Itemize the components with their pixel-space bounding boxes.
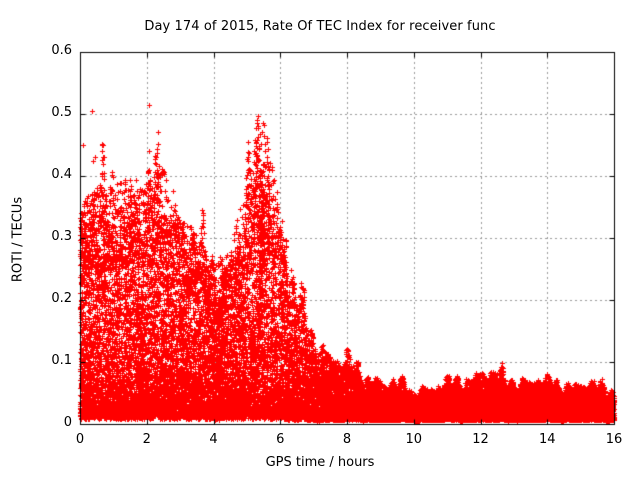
x-tick-label: 4 bbox=[184, 432, 244, 447]
roti-scatter-plot bbox=[0, 0, 640, 480]
y-tick-label: 0.6 bbox=[20, 43, 72, 58]
chart-title: Day 174 of 2015, Rate Of TEC Index for r… bbox=[0, 19, 640, 34]
x-tick-label: 2 bbox=[117, 432, 177, 447]
y-tick-label: 0.1 bbox=[20, 353, 72, 368]
y-tick-label: 0 bbox=[20, 415, 72, 430]
x-tick-label: 6 bbox=[250, 432, 310, 447]
x-tick-label: 14 bbox=[517, 432, 577, 447]
y-tick-label: 0.5 bbox=[20, 105, 72, 120]
x-axis-title: GPS time / hours bbox=[0, 455, 640, 470]
x-tick-label: 0 bbox=[50, 432, 110, 447]
y-tick-label: 0.4 bbox=[20, 167, 72, 182]
y-tick-label: 0.2 bbox=[20, 291, 72, 306]
x-tick-label: 8 bbox=[317, 432, 377, 447]
x-tick-label: 10 bbox=[384, 432, 444, 447]
x-tick-label: 12 bbox=[451, 432, 511, 447]
y-tick-label: 0.3 bbox=[20, 229, 72, 244]
x-tick-label: 16 bbox=[584, 432, 640, 447]
